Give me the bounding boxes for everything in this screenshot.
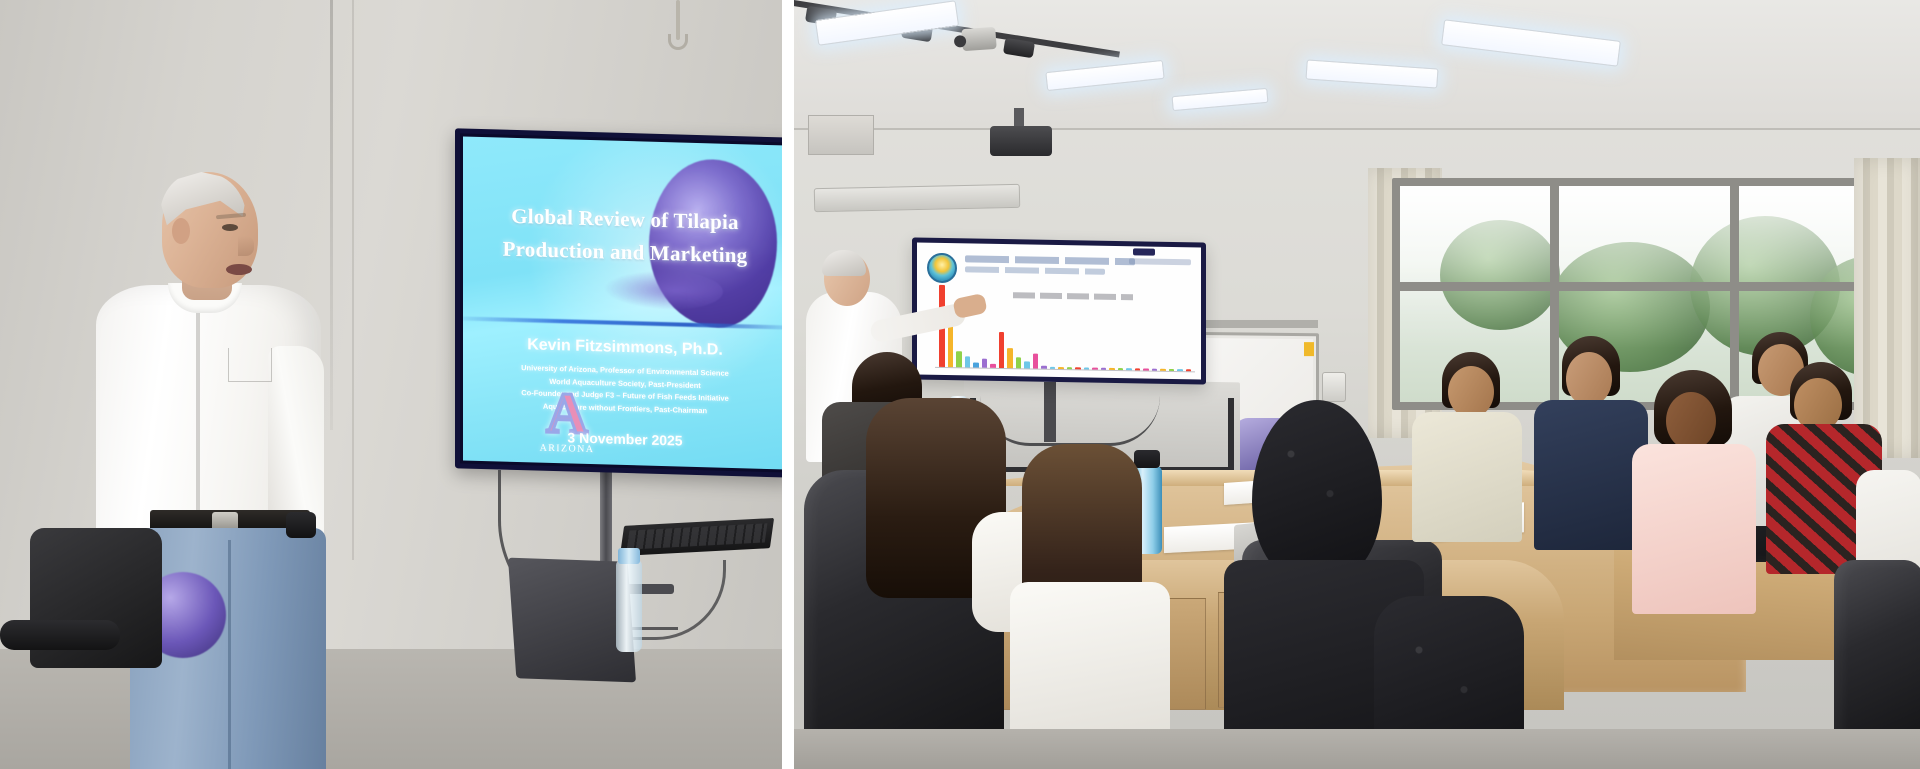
presentation-screen: Global Review of Tilapia Production and … bbox=[455, 128, 782, 477]
display-camera-icon bbox=[1133, 248, 1155, 255]
slide-presenter-name: Kevin Fitzsimmons, Ph.D. bbox=[463, 334, 782, 361]
chart-bar bbox=[982, 359, 988, 368]
arizona-logo: A ARIZONA bbox=[539, 383, 595, 463]
curtain-right bbox=[1854, 158, 1920, 458]
security-camera-icon bbox=[961, 27, 996, 51]
shirt-placket bbox=[196, 300, 200, 530]
student-sweater bbox=[1534, 400, 1648, 550]
jeans-seam bbox=[228, 540, 231, 769]
whiteboard-clip bbox=[1304, 342, 1314, 356]
display-stand bbox=[1044, 382, 1056, 442]
slide-header-right-text bbox=[1129, 258, 1191, 265]
water-bottle bbox=[616, 560, 642, 652]
photo-composite: Global Review of Tilapia Production and … bbox=[0, 0, 1920, 769]
ceiling-wall-joint bbox=[794, 128, 1920, 130]
presenter-mouth bbox=[226, 264, 252, 275]
office-chair-armrest bbox=[0, 620, 120, 650]
air-conditioner-unit bbox=[814, 184, 1020, 212]
window-mullion bbox=[1400, 282, 1912, 291]
slide-emblem-icon bbox=[927, 253, 957, 284]
right-photo-panel bbox=[794, 0, 1920, 769]
window-mullion bbox=[1550, 186, 1559, 402]
wall-seam bbox=[330, 0, 333, 430]
wall-vent bbox=[808, 115, 874, 155]
presenter-nose bbox=[238, 236, 254, 256]
insulated-bottle-cap bbox=[1134, 450, 1160, 468]
chart-bar bbox=[1016, 358, 1022, 369]
left-photo-panel: Global Review of Tilapia Production and … bbox=[0, 0, 782, 769]
water-bottle-cap bbox=[618, 548, 640, 564]
chart-bar bbox=[1007, 348, 1013, 368]
wristwatch bbox=[286, 512, 316, 538]
ceiling-projector bbox=[990, 126, 1052, 156]
slide-affiliations: University of Arizona, Professor of Envi… bbox=[463, 360, 782, 419]
slide-subheader-text bbox=[965, 266, 1105, 274]
chart-bar bbox=[956, 351, 962, 367]
wall-seam-secondary bbox=[352, 0, 354, 560]
window-mullion bbox=[1730, 186, 1739, 402]
panel-gutter bbox=[782, 0, 794, 769]
projector-mount bbox=[1014, 108, 1024, 128]
chart-bar bbox=[965, 356, 971, 368]
presenter-eye bbox=[222, 224, 238, 231]
title-slide: Global Review of Tilapia Production and … bbox=[463, 136, 782, 469]
chart-bar bbox=[1033, 354, 1039, 369]
chart-bar bbox=[999, 332, 1005, 368]
student-top bbox=[1412, 412, 1522, 542]
student-head bbox=[1448, 366, 1494, 418]
student-head bbox=[1666, 392, 1716, 450]
student-blouse bbox=[1632, 444, 1756, 614]
wall-speaker bbox=[1322, 372, 1346, 402]
shirt-pocket bbox=[228, 348, 272, 382]
room-floor bbox=[794, 729, 1920, 769]
student-head bbox=[1566, 352, 1612, 406]
presenter-ear bbox=[172, 218, 190, 244]
av-cables bbox=[980, 396, 1160, 446]
slide-date: 3 November 2025 bbox=[463, 426, 782, 451]
slide-header-text bbox=[965, 255, 1135, 265]
